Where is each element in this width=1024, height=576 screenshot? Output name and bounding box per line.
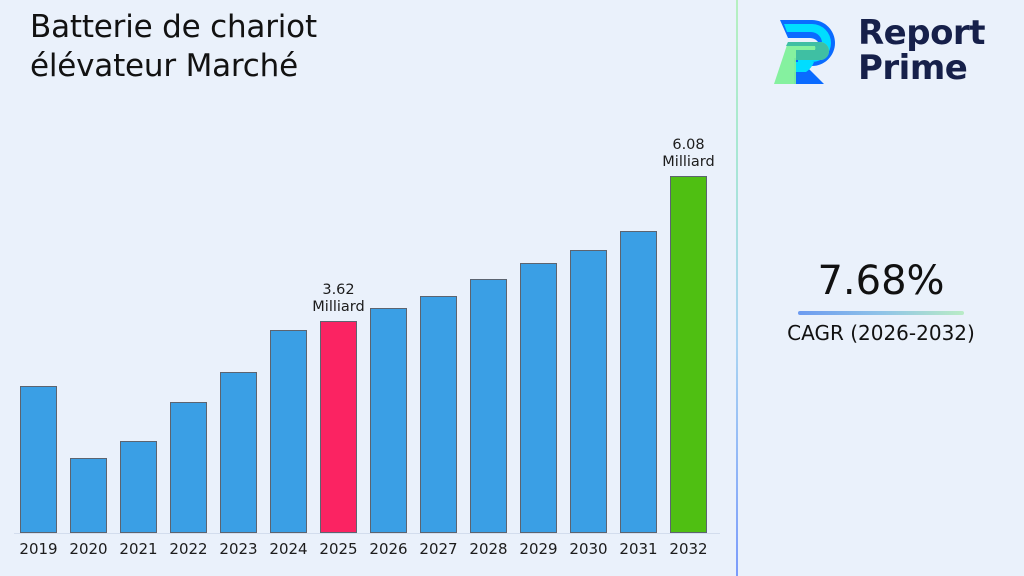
- bar-2032[interactable]: [670, 176, 707, 533]
- bar-2024[interactable]: [270, 330, 307, 533]
- bar-2026[interactable]: [370, 308, 407, 533]
- cagr-divider-rule: [798, 311, 964, 315]
- cagr-block: 7.68% CAGR (2026-2032): [738, 258, 1024, 345]
- report-prime-logo-icon: [766, 12, 844, 90]
- bar-2031[interactable]: [620, 231, 657, 533]
- bar-2023[interactable]: [220, 372, 257, 533]
- bar-2021[interactable]: [120, 441, 157, 533]
- bar-2030[interactable]: [570, 250, 607, 533]
- bar-2025[interactable]: [320, 321, 357, 533]
- cagr-label: CAGR (2026-2032): [738, 321, 1024, 345]
- x-axis-line: [14, 533, 720, 534]
- brand-logo: Report Prime: [766, 12, 985, 90]
- chart-panel: Batterie de chariot élévateur Marché 3.6…: [0, 0, 738, 576]
- brand-name: Report Prime: [858, 16, 985, 86]
- bar-2019[interactable]: [20, 386, 57, 533]
- bar-2027[interactable]: [420, 296, 457, 533]
- cagr-value: 7.68%: [738, 258, 1024, 304]
- bar-value-label-2025: 3.62 Milliard: [284, 282, 394, 316]
- bar-2022[interactable]: [170, 402, 207, 533]
- bar-2028[interactable]: [470, 279, 507, 533]
- x-tick-2032: 2032: [659, 540, 719, 558]
- bar-value-label-2032: 6.08 Milliard: [634, 137, 744, 171]
- bar-2029[interactable]: [520, 263, 557, 533]
- bar-chart: 3.62 Milliard6.08 Milliard 2019202020212…: [0, 0, 738, 576]
- brand-panel: Report Prime 7.68% CAGR (2026-2032): [738, 0, 1024, 576]
- bar-2020[interactable]: [70, 458, 107, 533]
- report-slide: Batterie de chariot élévateur Marché 3.6…: [0, 0, 1024, 576]
